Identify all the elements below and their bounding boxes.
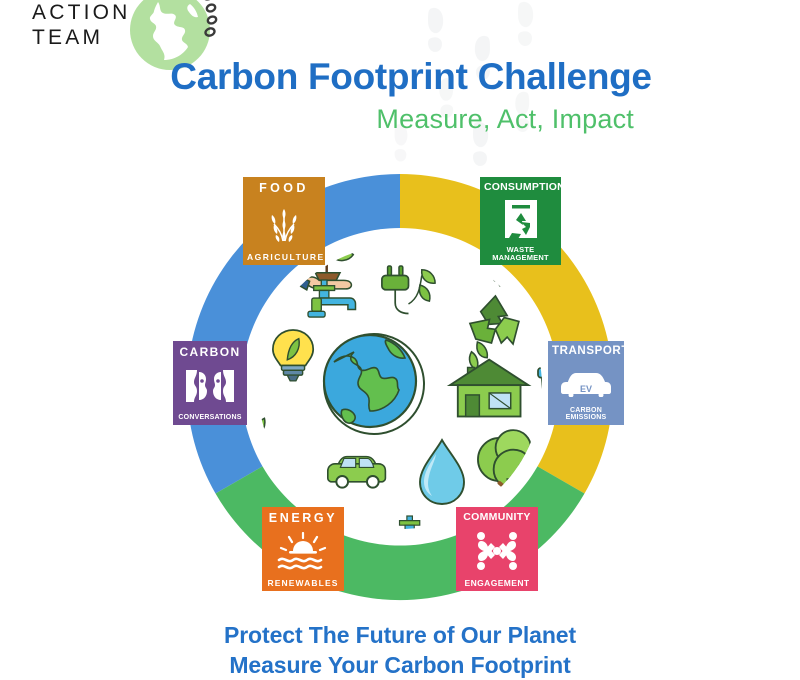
wheat-icon <box>247 195 321 253</box>
badge-energy-subtitle: RENEWABLES <box>266 579 340 588</box>
logo-text: ACTION TEAM <box>32 0 131 50</box>
badge-transport-title: TRANSPORT <box>552 346 620 358</box>
badge-carbon-subtitle: CONVERSATIONS <box>177 414 243 421</box>
people-circle-icon <box>460 523 534 579</box>
logo[interactable]: ACTION TEAM <box>10 0 230 56</box>
badge-carbon-title: CARBON <box>177 346 243 358</box>
sun-waves-icon <box>266 525 340 579</box>
page-title: Carbon Footprint Challenge <box>0 56 800 98</box>
badge-community-subtitle: ENGAGEMENT <box>460 579 534 588</box>
two-faces-talking-icon <box>177 358 243 414</box>
badge-community[interactable]: COMMUNITY ENGAGEMENT <box>456 507 538 591</box>
badge-consumption-title: CONSUMPTION <box>484 182 557 193</box>
badge-community-title: COMMUNITY <box>460 512 534 523</box>
ev-car-icon: EV <box>552 358 620 408</box>
badge-consumption-subtitle: WASTE MANAGEMENT <box>484 246 557 261</box>
footer-tagline: Protect The Future of Our Planet Measure… <box>0 620 800 680</box>
badge-food-subtitle: AGRICULTURE <box>247 253 321 262</box>
recycle-bin-icon <box>484 193 557 247</box>
footprint-icon <box>515 0 541 46</box>
earth-globe-icon <box>324 334 424 434</box>
badge-energy[interactable]: ENERGY RENEWABLES <box>262 507 344 591</box>
badge-food-title: FOOD <box>247 182 321 195</box>
badge-food[interactable]: FOOD AGRICULTURE <box>243 177 325 265</box>
badge-consumption[interactable]: CONSUMPTION WASTE MANAGEMENT <box>480 177 561 265</box>
svg-text:EV: EV <box>580 384 592 394</box>
footer-line-1: Protect The Future of Our Planet <box>0 620 800 650</box>
footprint-icon <box>425 6 451 52</box>
badge-transport-subtitle: CARBON EMISSIONS <box>552 407 620 421</box>
footer-line-2: Measure Your Carbon Footprint <box>0 650 800 680</box>
badge-energy-title: ENERGY <box>266 512 340 525</box>
badge-transport[interactable]: TRANSPORT EV CARBON EMISSIONS <box>548 341 624 425</box>
badge-carbon[interactable]: CARBON CONVERSATIONS <box>173 341 247 425</box>
page-subtitle: Measure, Act, Impact <box>0 104 634 135</box>
